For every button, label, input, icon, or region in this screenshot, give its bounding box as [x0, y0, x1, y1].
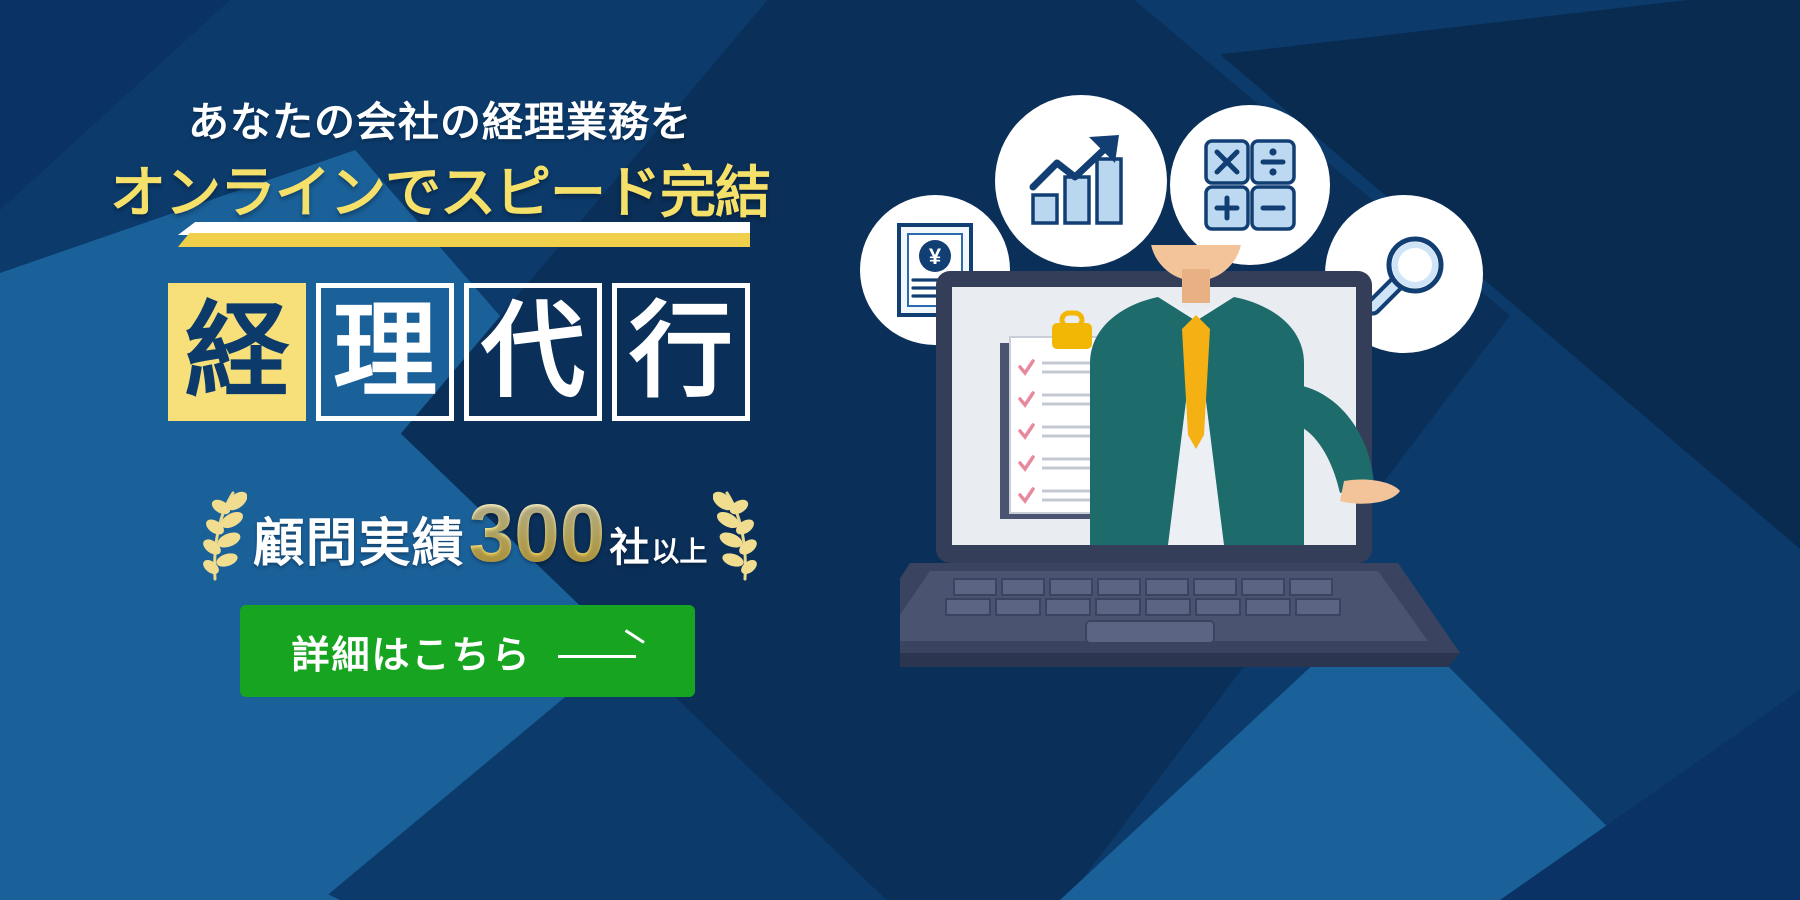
subline-wrapper: オンラインでスピード完結 — [0, 148, 880, 229]
banner-text-column: あなたの会社の経理業務を オンラインでスピード完結 経 理 代 行 — [0, 0, 880, 900]
illustration: ¥ — [840, 60, 1740, 680]
cta-button-label: 詳細はこちら — [291, 624, 531, 679]
calculator-icon — [1170, 105, 1330, 265]
achievement-prefix: 顧問実績 — [253, 501, 465, 576]
laptop-with-businessman-illustration — [900, 245, 1460, 685]
tagline: あなたの会社の経理業務を — [0, 88, 880, 148]
achievement-suffix: 以上 — [651, 530, 707, 570]
laurel-branch-left-icon — [185, 487, 247, 583]
achievement-text: 顧問実績 300 社 以上 — [253, 495, 708, 576]
title-kanji-box-1: 経 — [168, 283, 306, 421]
growth-chart-icon — [995, 95, 1167, 267]
laurel-branch-right-icon — [713, 487, 775, 583]
cta-button[interactable]: 詳細はこちら — [240, 605, 695, 697]
subline-prefix: オンラインで — [110, 148, 440, 229]
title-kanji-row: 経 理 代 行 — [168, 283, 750, 421]
subline-underline — [178, 222, 750, 248]
achievement-row: 顧問実績 300 社 以上 — [150, 480, 810, 590]
title-kanji-box-4: 行 — [612, 283, 750, 421]
title-kanji-box-2: 理 — [316, 283, 454, 421]
arrow-right-icon — [558, 641, 644, 661]
promo-banner: あなたの会社の経理業務を オンラインでスピード完結 経 理 代 行 — [0, 0, 1800, 900]
achievement-number: 300 — [469, 495, 606, 573]
achievement-unit: 社 — [609, 515, 649, 573]
underline-yellow — [178, 233, 750, 247]
title-kanji-box-3: 代 — [464, 283, 602, 421]
subline-emphasis: スピード完結 — [440, 148, 770, 229]
